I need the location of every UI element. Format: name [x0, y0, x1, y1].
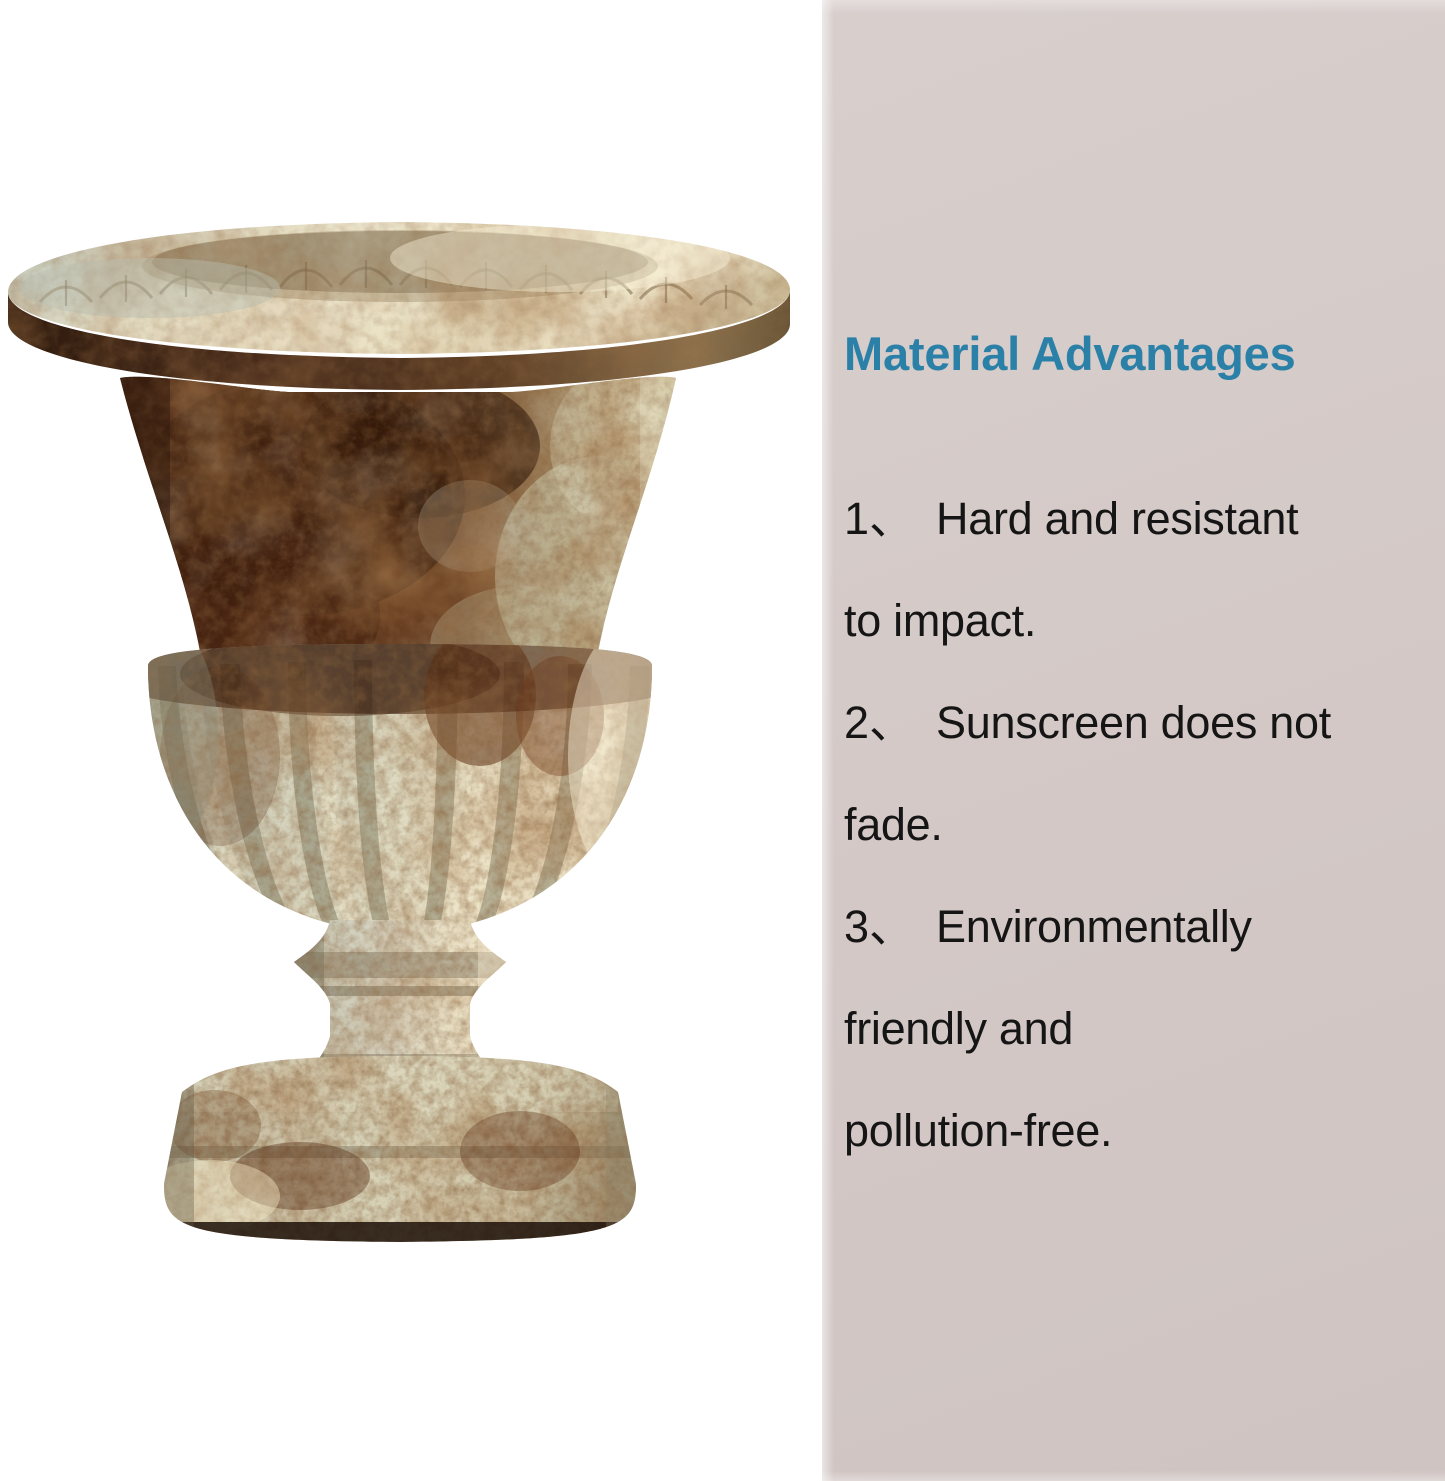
product-photo-pane: [0, 0, 822, 1481]
urn-fluted-bowl: [122, 626, 688, 946]
product-marketing-image: Material Advantages 1、Hard and resistant…: [0, 0, 1445, 1481]
advantage-3-text-2: friendly and: [844, 1003, 1073, 1054]
panel-title: Material Advantages: [844, 330, 1444, 377]
material-advantages-panel: Material Advantages 1、Hard and resistant…: [822, 0, 1445, 1481]
advantage-1-text-1: Hard and resistant: [936, 493, 1298, 544]
advantage-2-text-2: fade.: [844, 799, 943, 850]
advantages-list: 1、Hard and resistant to impact. 2、Sunscr…: [844, 468, 1445, 1182]
advantage-item-2-line-2: fade.: [844, 774, 1445, 876]
advantage-3-text-1: Environmentally: [936, 901, 1252, 952]
advantage-2-number: 2、: [844, 697, 914, 748]
advantage-item-1-line-1: 1、Hard and resistant: [844, 468, 1445, 570]
urn-base-plinth: [140, 1046, 640, 1246]
urn-illustration: [0, 196, 800, 1256]
advantage-item-2-line-1: 2、Sunscreen does not: [844, 672, 1445, 774]
advantage-item-3-line-1: 3、Environmentally: [844, 876, 1445, 978]
urn-product-photo: [0, 196, 800, 1256]
advantage-item-1-line-2: to impact.: [844, 570, 1445, 672]
advantage-item-3-line-3: pollution-free.: [844, 1080, 1445, 1182]
advantage-2-text-1: Sunscreen does not: [936, 697, 1331, 748]
advantage-1-text-2: to impact.: [844, 595, 1036, 646]
advantage-3-text-3: pollution-free.: [844, 1105, 1112, 1156]
advantage-1-number: 1、: [844, 493, 914, 544]
advantage-item-3-line-2: friendly and: [844, 978, 1445, 1080]
advantage-3-number: 3、: [844, 901, 914, 952]
